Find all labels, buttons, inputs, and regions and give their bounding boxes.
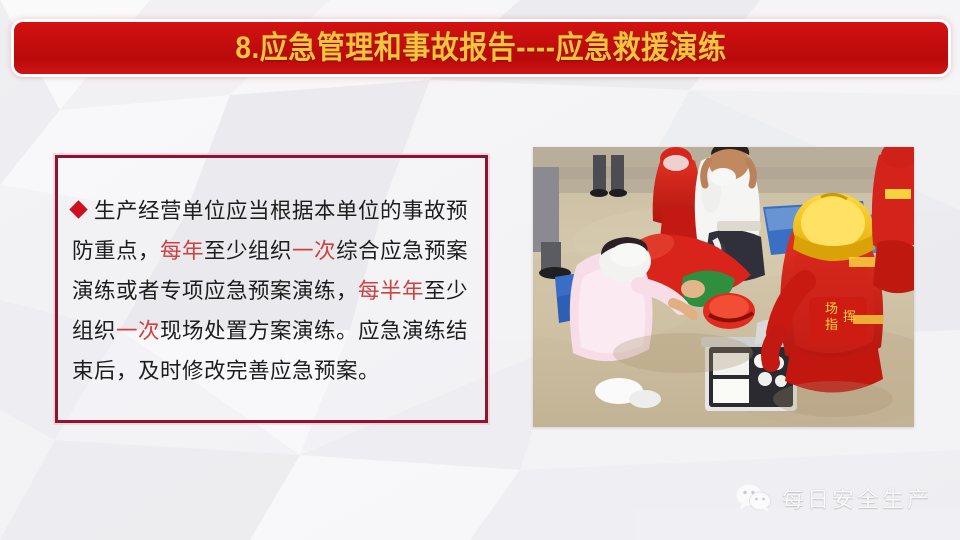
page-title: 8.应急管理和事故报告----应急救援演练 — [235, 32, 726, 63]
seg-3-highlight: 一次 — [292, 239, 336, 264]
slide-canvas: 8.应急管理和事故报告----应急救援演练 生产经营单位应当根据本单位的事故预防… — [0, 0, 960, 540]
svg-text:场: 场 — [825, 302, 838, 317]
wechat-icon — [736, 484, 772, 512]
watermark: 每日安全生产 — [736, 482, 932, 514]
seg-1-highlight: 每年 — [160, 239, 204, 264]
content-box: 生产经营单位应当根据本单位的事故预防重点，每年至少组织一次综合应急预案演练或者专… — [55, 155, 488, 423]
title-banner-fill: 8.应急管理和事故报告----应急救援演练 — [14, 22, 948, 74]
rescue-drill-photo: 场 指 挥 — [533, 147, 914, 427]
watermark-text: 每日安全生产 — [782, 482, 932, 514]
title-banner: 8.应急管理和事故报告----应急救援演练 — [14, 22, 948, 74]
seg-2: 至少组织 — [204, 239, 292, 264]
seg-5-highlight: 每半年 — [358, 279, 424, 304]
body-paragraph: 生产经营单位应当根据本单位的事故预防重点，每年至少组织一次综合应急预案演练或者专… — [72, 192, 477, 392]
svg-text:指: 指 — [825, 318, 838, 333]
seg-7-highlight: 一次 — [116, 319, 160, 344]
diamond-bullet-icon — [69, 200, 87, 218]
